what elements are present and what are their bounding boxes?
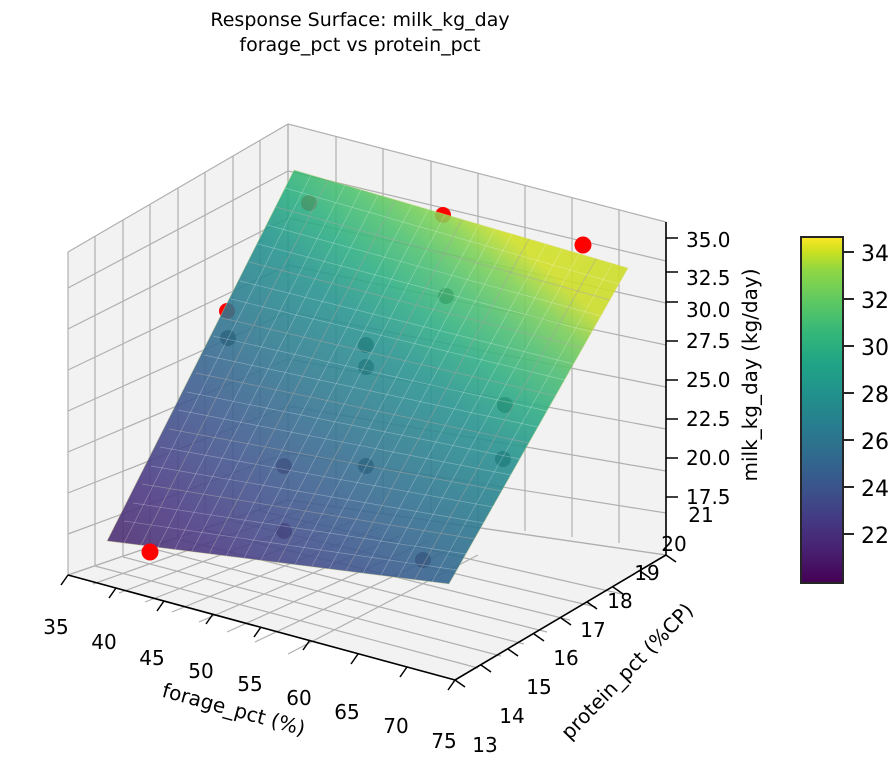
y-tick-label: 20 xyxy=(661,532,686,556)
z-tick-label: 17.5 xyxy=(686,485,731,509)
scatter-point xyxy=(575,237,592,254)
surface-plot-3d: 35 40 45 50 55 60 65 70 75 forage_pct (%… xyxy=(0,0,896,775)
z-tick-label: 22.5 xyxy=(686,407,731,431)
x-tick-label: 40 xyxy=(91,630,116,654)
x-tick-label: 55 xyxy=(237,672,262,696)
z-tick-label: 35.0 xyxy=(686,228,731,252)
z-axis-label: milk_kg_day (kg/day) xyxy=(738,268,762,481)
colorbar: 34 32 30 28 26 24 22 xyxy=(801,237,889,583)
y-tick-label: 18 xyxy=(607,589,632,613)
z-axis-ticks: 17.5 20.0 22.5 25.0 27.5 30.0 32.5 35.0 … xyxy=(666,228,762,509)
z-tick-label: 30.0 xyxy=(686,298,731,322)
z-tick-label: 27.5 xyxy=(686,329,731,353)
x-tick-label: 50 xyxy=(188,659,213,683)
z-tick-label: 32.5 xyxy=(686,266,731,290)
y-tick-label: 13 xyxy=(472,733,497,757)
x-tick-label: 75 xyxy=(431,729,456,753)
y-tick-label: 14 xyxy=(499,704,524,728)
colorbar-tick-label: 32 xyxy=(861,289,889,314)
y-tick-label: 16 xyxy=(553,646,578,670)
colorbar-tick-label: 30 xyxy=(861,336,889,361)
y-tick-label: 19 xyxy=(634,561,659,585)
colorbar-tick-label: 22 xyxy=(861,524,889,549)
colorbar-tick-label: 28 xyxy=(861,383,889,408)
x-tick-label: 60 xyxy=(286,686,311,710)
colorbar-tick-label: 34 xyxy=(861,242,889,267)
colorbar-tick-label: 26 xyxy=(861,430,889,455)
z-tick-label: 25.0 xyxy=(686,368,731,392)
x-tick-label: 45 xyxy=(139,646,164,670)
colorbar-tick-label: 24 xyxy=(861,477,889,502)
z-tick-label: 20.0 xyxy=(686,446,731,470)
colorbar-gradient xyxy=(801,237,843,583)
scatter-point xyxy=(142,544,159,561)
x-tick-label: 65 xyxy=(334,700,359,724)
x-tick-label: 35 xyxy=(43,615,68,639)
y-tick-label: 15 xyxy=(526,675,551,699)
x-tick-label: 70 xyxy=(383,714,408,738)
y-tick-label: 17 xyxy=(580,618,605,642)
figure-canvas: Response Surface: milk_kg_day forage_pct… xyxy=(0,0,896,775)
y-axis-label: protein_pct (%CP) xyxy=(556,598,698,744)
